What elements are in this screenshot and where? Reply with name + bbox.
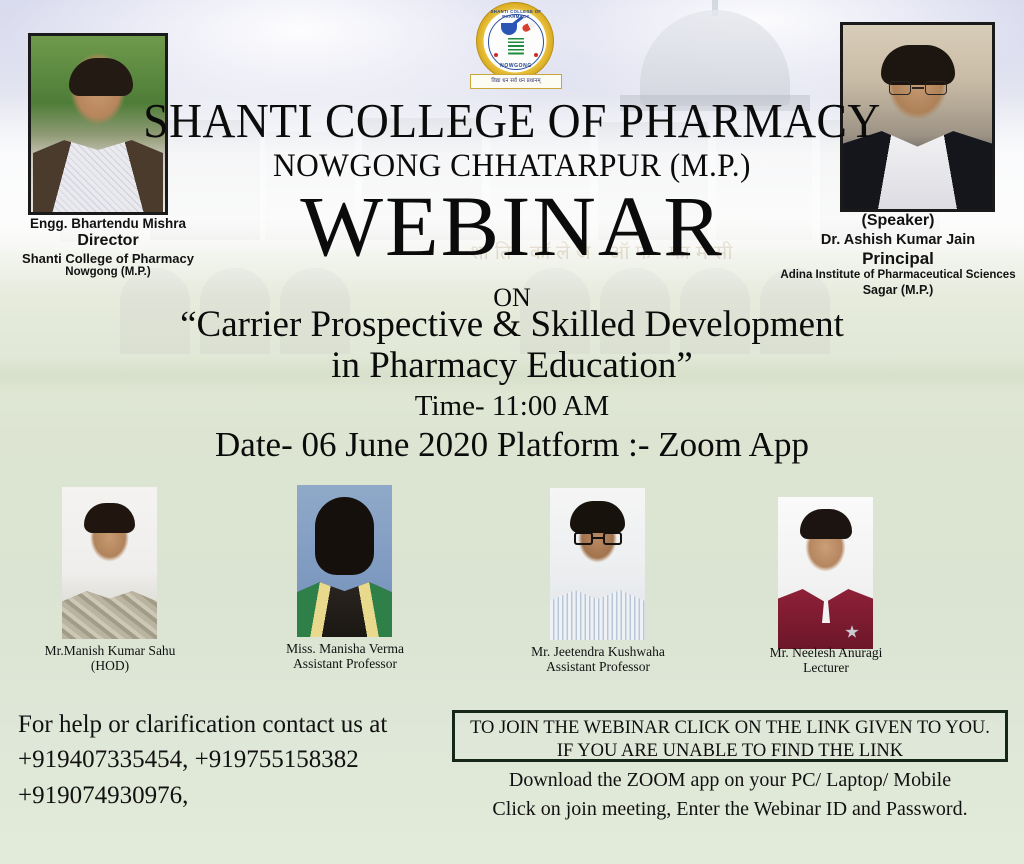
college-logo: SHANTI COLLEGE OF PHARMACY NOWGONG विद्य… (470, 2, 562, 94)
faculty-name: Miss. Manisha Verma (255, 641, 435, 656)
logo-seal-top-text: SHANTI COLLEGE OF PHARMACY (477, 9, 555, 19)
contact-block: For help or clarification contact us at … (18, 708, 448, 814)
faculty-photo (297, 485, 392, 637)
collar-shape (816, 601, 836, 623)
join-sub-line-1: Download the ZOOM app on your PC/ Laptop… (452, 765, 1008, 795)
faculty-name: Mr.Manish Kumar Sahu (20, 643, 200, 658)
join-sub-instructions: Download the ZOOM app on your PC/ Laptop… (452, 765, 1008, 823)
join-instruction-line-1: TO JOIN THE WEBINAR CLICK ON THE LINK GI… (455, 713, 1005, 740)
topic-line-2: in Pharmacy Education” (0, 344, 1024, 387)
snake-bowl-icon (508, 36, 524, 56)
faculty-caption: Mr. Jeetendra Kushwaha Assistant Profess… (508, 644, 688, 674)
faculty-role: (HOD) (20, 658, 200, 673)
faculty-name: Mr. Neelesh Anuragi (736, 645, 916, 660)
logo-ribbon-motto: विद्या धन सर्व धन प्रधानम् (470, 74, 562, 89)
contact-phone-line-2[interactable]: +919074930976, (18, 778, 448, 814)
faculty-caption: Mr. Neelesh Anuragi Lecturer (736, 645, 916, 675)
logo-seal-bottom-text: NOWGONG (477, 63, 555, 69)
webinar-poster: शांति कॉलेज ऑफ फार्मेसी SHANTI COLLEGE O… (0, 0, 1024, 864)
faculty-name: Mr. Jeetendra Kushwaha (508, 644, 688, 659)
join-sub-line-2: Click on join meeting, Enter the Webinar… (452, 795, 1008, 823)
event-type-title: WEBINAR (0, 183, 1024, 269)
logo-dot-right (534, 53, 538, 57)
faculty-role: Assistant Professor (508, 659, 688, 674)
join-instruction-line-2: IF YOU ARE UNABLE TO FIND THE LINK (455, 740, 1005, 762)
star-badge-icon (845, 625, 859, 639)
event-time: Time- 11:00 AM (0, 390, 1024, 423)
contact-phone-line-1[interactable]: +919407335454, +919755158382 (18, 742, 448, 778)
topic-line-1: “Carrier Prospective & Skilled Developme… (0, 303, 1024, 346)
faculty-photo (550, 488, 645, 640)
glasses-icon (574, 532, 622, 546)
faculty-caption: Miss. Manisha Verma Assistant Professor (255, 641, 435, 671)
faculty-role: Assistant Professor (255, 656, 435, 671)
faculty-photo (62, 487, 157, 639)
event-date-platform: Date- 06 June 2020 Platform :- Zoom App (0, 425, 1024, 465)
page-title: SHANTI COLLEGE OF PHARMACY (36, 92, 988, 149)
faculty-caption: Mr.Manish Kumar Sahu (HOD) (20, 643, 200, 673)
join-instructions-box: TO JOIN THE WEBINAR CLICK ON THE LINK GI… (452, 710, 1008, 762)
logo-seal-ring: SHANTI COLLEGE OF PHARMACY NOWGONG (476, 2, 554, 80)
faculty-photo (778, 497, 873, 649)
contact-heading: For help or clarification contact us at (18, 708, 448, 742)
logo-dot-left (494, 53, 498, 57)
faculty-role: Lecturer (736, 660, 916, 675)
speaker-institute: Adina Institute of Pharmaceutical Scienc… (772, 269, 1024, 283)
